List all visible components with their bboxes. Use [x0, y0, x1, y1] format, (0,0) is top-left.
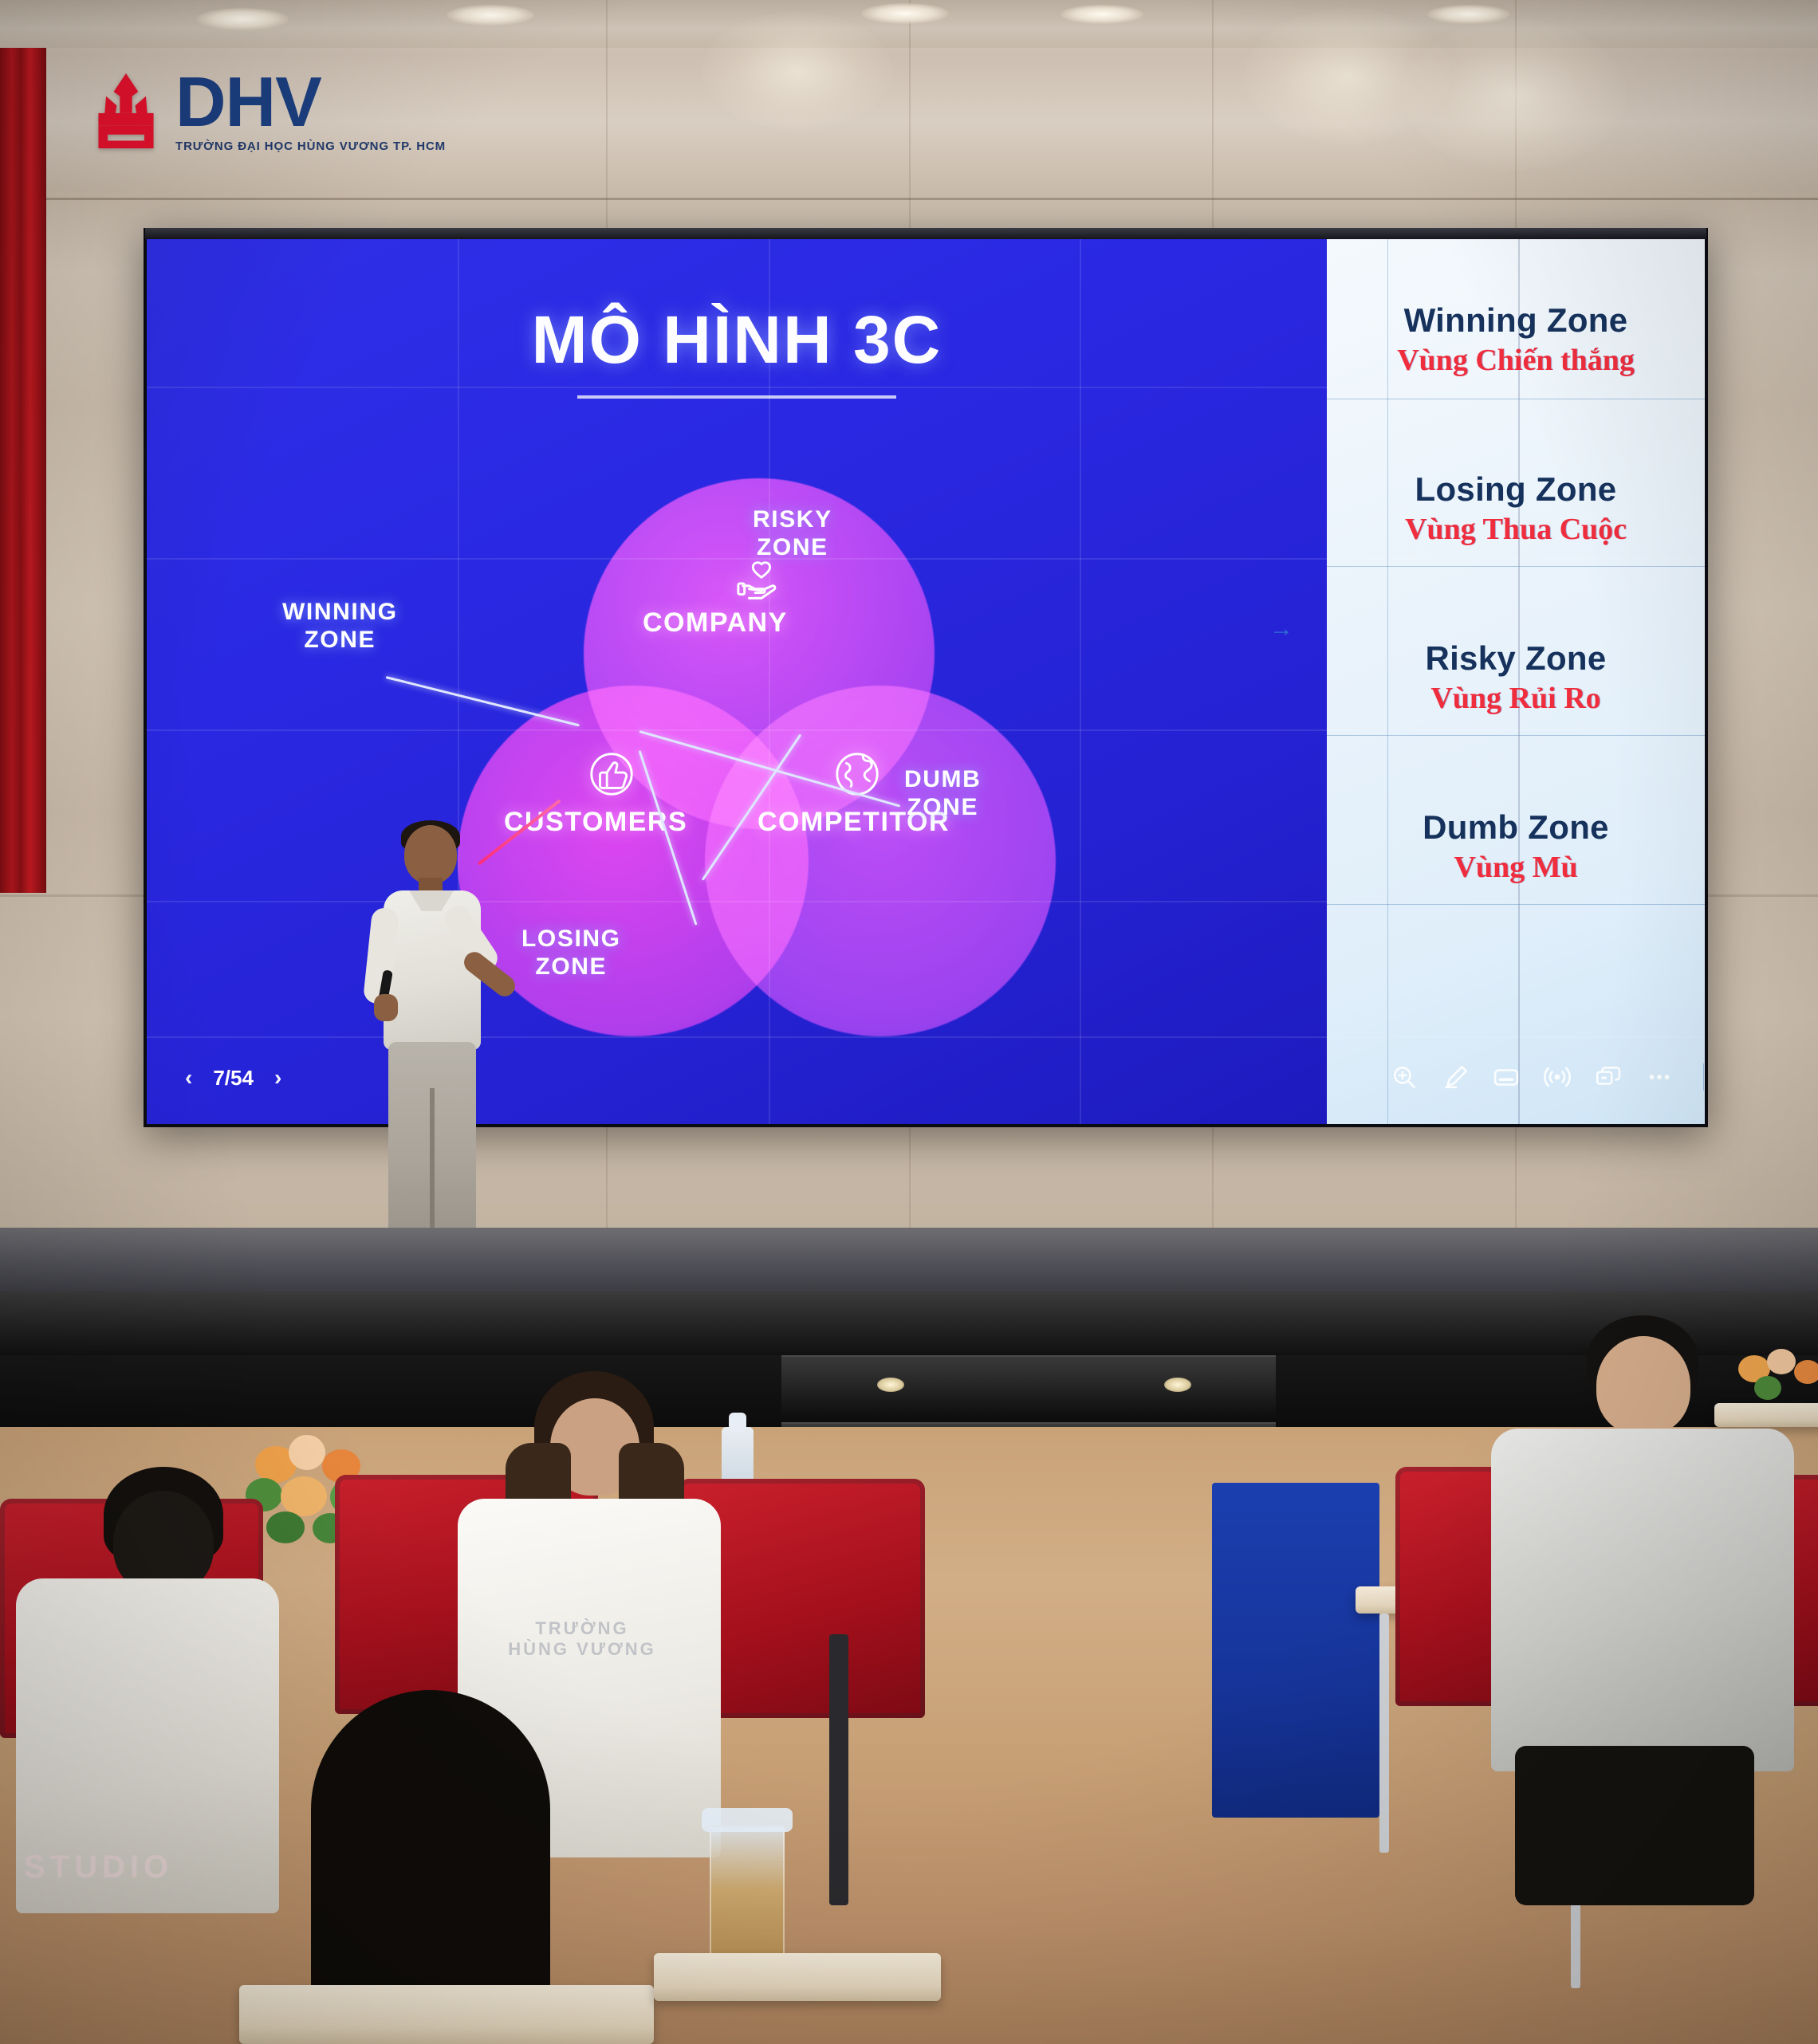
ceiling-light — [1060, 5, 1143, 24]
zone-winning-line1: WINNING — [282, 599, 398, 625]
desk-leg — [1379, 1614, 1389, 1853]
legend-divider — [1327, 566, 1705, 567]
slide-toolbar[interactable] — [1391, 1063, 1705, 1091]
toolbar-divider — [1703, 1063, 1704, 1091]
legend-en-risky: Risky Zone — [1327, 639, 1705, 678]
leader-line-winning — [386, 676, 580, 726]
step-light — [1164, 1378, 1191, 1392]
zone-label-winning: WINNING ZONE — [282, 598, 398, 654]
venn-circle-competitor — [705, 686, 1056, 1036]
logo-wordmark: DHV — [175, 70, 446, 135]
legend-en-dumb: Dumb Zone — [1327, 808, 1705, 847]
legend-en-losing: Losing Zone — [1327, 470, 1705, 509]
legend-vi-dumb: Vùng Mù — [1327, 850, 1705, 885]
zoom-in-icon[interactable] — [1391, 1063, 1418, 1091]
globe-icon — [832, 749, 882, 799]
ceiling-light — [196, 8, 289, 30]
red-curtain — [0, 48, 46, 893]
more-options-icon[interactable] — [1646, 1063, 1673, 1091]
led-screen-bezel — [145, 228, 1706, 239]
broadcast-icon[interactable] — [1544, 1063, 1571, 1091]
shirt-text: TRƯỜNG HÙNG VƯƠNG — [486, 1618, 678, 1660]
person-hair — [311, 1690, 550, 2025]
legend-item-winning: Winning Zone Vùng Chiến thắng — [1327, 301, 1705, 378]
presenter-left-hand — [374, 994, 398, 1021]
zone-risky-line1: RISKY — [753, 506, 832, 533]
legend-item-risky: Risky Zone Vùng Rủi Ro — [1327, 639, 1705, 716]
zone-winning-line2: ZONE — [304, 627, 376, 653]
zone-risky-line2: ZONE — [757, 534, 828, 560]
thumbs-up-icon — [587, 749, 636, 799]
chair-frame — [829, 1634, 848, 1905]
slide-counter: 7/54 — [213, 1066, 254, 1091]
drink-cup — [710, 1826, 785, 1969]
ceiling-light — [447, 5, 534, 26]
presentation-hall-photo: DHV TRƯỜNG ĐẠI HỌC HÙNG VƯƠNG TP. HCM MÔ… — [0, 0, 1818, 2044]
front-table — [654, 1953, 941, 2001]
logo-tagline: TRƯỜNG ĐẠI HỌC HÙNG VƯƠNG TP. HCM — [175, 140, 446, 153]
draped-table — [1212, 1483, 1379, 1818]
legend-vi-risky: Vùng Rủi Ro — [1327, 681, 1705, 716]
legend-item-losing: Losing Zone Vùng Thua Cuộc — [1327, 470, 1705, 547]
legend-vi-losing: Vùng Thua Cuộc — [1327, 512, 1705, 547]
legend-en-winning: Winning Zone — [1327, 301, 1705, 340]
legend-vi-winning: Vùng Chiến thắng — [1327, 343, 1705, 378]
front-table — [239, 1985, 654, 2044]
slide-navigation[interactable]: ‹ 7/54 › — [185, 1065, 281, 1091]
crown-icon — [88, 70, 164, 153]
venn-label-company: COMPANY — [643, 607, 788, 639]
zone-legend-list: Winning Zone Vùng Chiến thắng Losing Zon… — [1327, 239, 1705, 1124]
dhv-logo: DHV TRƯỜNG ĐẠI HỌC HÙNG VƯƠNG TP. HCM — [88, 70, 446, 153]
legend-divider — [1327, 735, 1705, 736]
cup-lid — [702, 1808, 793, 1832]
zone-label-risky: RISKY ZONE — [753, 505, 832, 562]
hand-heart-icon — [735, 558, 785, 607]
legend-overlay: Winning Zone Vùng Chiến thắng Losing Zon… — [1327, 239, 1705, 1124]
ceiling-light — [861, 3, 949, 24]
venn-diagram: COMPANY CUSTOMERS COMPETITOR — [147, 239, 1327, 1124]
legend-divider — [1327, 904, 1705, 905]
step-light — [877, 1378, 904, 1392]
step — [781, 1355, 1276, 1417]
audience-person — [1483, 1315, 1802, 1921]
zone-label-losing: LOSING ZONE — [521, 925, 621, 981]
zone-losing-line2: ZONE — [535, 953, 607, 980]
person-legs — [1515, 1746, 1754, 1905]
pen-icon[interactable] — [1442, 1063, 1469, 1091]
legend-divider — [1327, 399, 1705, 399]
stage-reflection — [0, 1228, 1818, 1293]
arrow-marker-icon: → — [1269, 615, 1293, 643]
audience-person — [8, 1467, 279, 1913]
subtitles-icon[interactable] — [1493, 1063, 1520, 1091]
presenter — [363, 825, 506, 1272]
chair-back-text: STUDIO — [24, 1849, 173, 1885]
next-slide-button[interactable]: › — [274, 1065, 281, 1091]
prev-slide-button[interactable]: ‹ — [185, 1065, 192, 1091]
zone-losing-line1: LOSING — [521, 926, 621, 952]
duplicate-window-icon[interactable] — [1595, 1063, 1622, 1091]
person-body — [1491, 1429, 1794, 1771]
presenter-leg-seam — [430, 1088, 435, 1236]
person-head — [1596, 1336, 1690, 1435]
zone-dumb-line2: ZONE — [907, 794, 978, 820]
zone-dumb-line1: DUMB — [904, 766, 981, 792]
zone-label-dumb: DUMB ZONE — [904, 765, 981, 822]
legend-item-dumb: Dumb Zone Vùng Mù — [1327, 808, 1705, 885]
ceiling-light — [1427, 5, 1510, 24]
presenter-head — [404, 825, 457, 884]
